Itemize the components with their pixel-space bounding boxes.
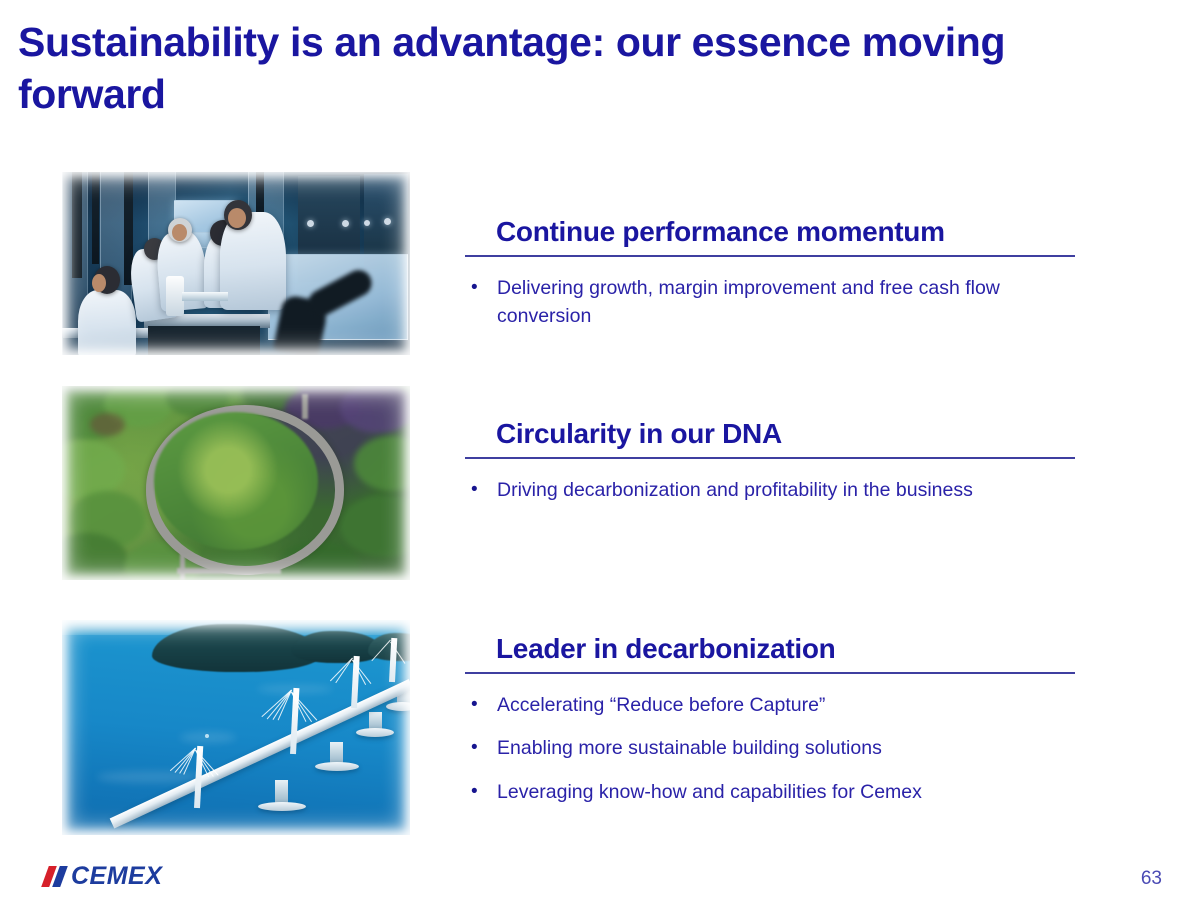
list-item: • Driving decarbonization and profitabil… [465,476,1080,504]
heading-rule-1 [465,255,1075,257]
heading-rule-2 [465,457,1075,459]
section-heading-leader-in-decarbonization: Leader in decarbonization [496,633,835,665]
bullet-text: Delivering growth, margin improvement an… [497,274,1080,331]
section-heading-circularity-in-our-dna: Circularity in our DNA [496,418,782,450]
bullet-dot-icon: • [465,691,497,719]
list-item: • Enabling more sustainable building sol… [465,734,1080,762]
bullet-text: Accelerating “Reduce before Capture” [497,691,1080,719]
bullet-text: Enabling more sustainable building solut… [497,734,1080,762]
bullet-list-3: • Accelerating “Reduce before Capture” •… [465,691,1080,808]
section-heading-continue-performance-momentum: Continue performance momentum [496,216,945,248]
bullet-list-2: • Driving decarbonization and profitabil… [465,476,1080,506]
page-title: Sustainability is an advantage: our esse… [18,16,1098,121]
heading-rule-3 [465,672,1075,674]
laboratory-researchers-photo [62,172,410,355]
cemex-logo: CEMEX [45,862,162,890]
aerial-forest-circular-road-photo [62,386,410,580]
list-item: • Delivering growth, margin improvement … [465,274,1080,331]
bullet-text: Driving decarbonization and profitabilit… [497,476,1080,504]
cable-stayed-bridge-over-water-photo [62,620,410,835]
bullet-dot-icon: • [465,734,497,762]
bullet-dot-icon: • [465,778,497,806]
list-item: • Accelerating “Reduce before Capture” [465,691,1080,719]
bullet-dot-icon: • [465,274,497,302]
bullet-list-1: • Delivering growth, margin improvement … [465,274,1080,333]
forest-interior-shape [154,412,318,550]
cemex-wordmark: CEMEX [71,864,162,889]
page-number: 63 [1141,868,1162,890]
list-item: • Leveraging know-how and capabilities f… [465,778,1080,806]
bullet-dot-icon: • [465,476,497,504]
bullet-text: Leveraging know-how and capabilities for… [497,778,1080,806]
